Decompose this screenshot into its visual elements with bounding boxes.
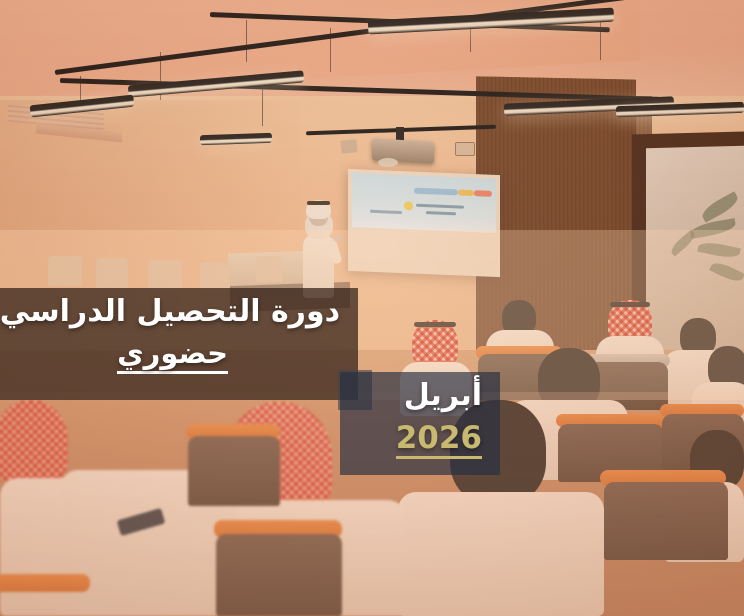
seat-back [188,436,280,506]
attendee-shirt [398,492,604,616]
attendee-igal [414,322,456,327]
wall-outlet [455,142,475,156]
attendee-shemagh [412,320,458,368]
slide-bar [474,190,492,197]
light-wire [600,22,601,60]
title-banner: دورة التحصيل الدراسي حضوري [0,288,358,400]
ceiling-speaker [340,139,357,154]
attendee-shemagh [0,400,68,486]
projector-lens [378,158,398,167]
seat-back [216,534,342,616]
course-mode-label: حضوري [117,336,228,374]
light-wire [262,82,263,126]
date-year: 2026 [396,420,482,459]
slide-text-line [370,210,402,214]
date-month: أبريل [404,378,482,413]
presenter-hand [333,233,341,242]
back-chair [96,258,128,288]
back-chair [48,256,82,286]
course-title: دورة التحصيل الدراسي [0,294,340,329]
slide-bar [458,189,474,196]
back-chair [256,256,282,282]
light-wire [246,20,247,62]
attendee-igal [610,302,650,307]
presenter-igal [307,201,330,205]
slide-accent [404,201,413,210]
projected-slide [352,173,496,233]
slide-text-line [426,211,456,215]
date-banner: أبريل 2026 [340,372,500,475]
promo-image: دورة التحصيل الدراسي حضوري أبريل 2026 [0,0,744,616]
slide-text-line [416,204,464,209]
slide-bar [414,188,458,196]
seat-back [604,482,728,560]
back-chair [200,262,230,290]
light-wire [330,28,331,72]
seat-top [0,574,90,592]
back-chair [148,260,182,290]
